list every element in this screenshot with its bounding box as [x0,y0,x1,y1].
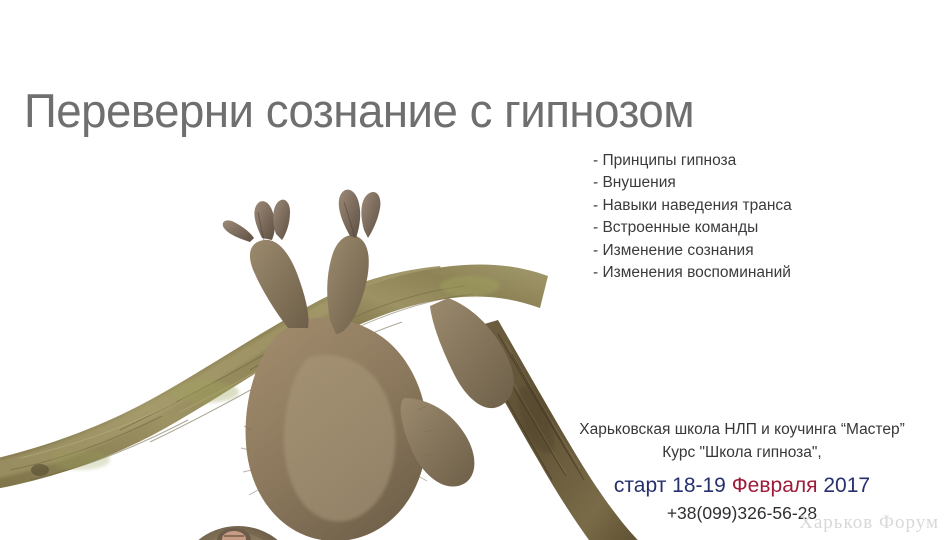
list-item: - Изменение сознания [593,240,923,262]
upper-branch [330,264,548,332]
footer-info: Харьковская школа НЛП и коучинга “Мастер… [535,418,949,525]
feature-list: - Принципы гипноза - Внушения - Навыки н… [593,150,923,284]
list-item: - Внушения [593,172,923,194]
organization-line: Харьковская школа НЛП и коучинга “Мастер… [535,418,949,441]
list-item: - Изменения воспоминаний [593,262,923,284]
sloth-head [178,526,296,540]
left-branch [0,266,452,490]
start-year: 2017 [823,474,870,497]
sloth [178,190,514,540]
list-item: - Навыки наведения транса [593,195,923,217]
list-item: - Принципы гипноза [593,150,923,172]
sloth-claws [223,190,381,242]
course-line: Курс "Школа гипноза", [535,441,949,464]
start-prefix: старт 18-19 [614,474,726,497]
watermark: Харьков Форум [799,512,939,534]
start-date-line: старт 18-19 Февраля 2017 [535,473,949,499]
poster-canvas: Переверни сознание с гипнозом - Принципы… [0,0,949,540]
start-month: Февраля [732,474,818,497]
page-title: Переверни сознание с гипнозом [24,83,694,139]
list-item: - Встроенные команды [593,217,923,239]
